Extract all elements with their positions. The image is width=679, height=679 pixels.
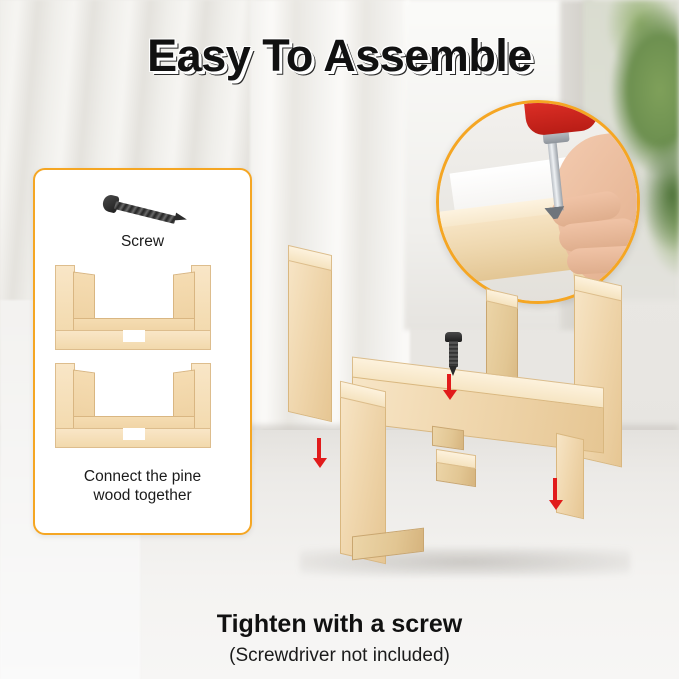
frame-back-left-post <box>288 250 332 422</box>
caption-main: Tighten with a screw <box>0 610 679 639</box>
screw-tip-icon <box>174 213 188 224</box>
screw-illustration <box>103 192 189 222</box>
screw-shaft-icon <box>114 201 176 224</box>
arrow-down-left <box>313 438 325 468</box>
connect-label: Connect the pine wood together <box>35 467 250 506</box>
screw-label: Screw <box>35 232 250 251</box>
product-infographic: Easy To Assemble Screw Connect the pine … <box>0 0 679 679</box>
frame-rail-notch <box>432 426 464 450</box>
page-title: Easy To Assemble <box>0 30 679 82</box>
finger-ring <box>566 245 640 275</box>
card-part-lower-left-post <box>55 363 75 437</box>
arrow-down-right <box>549 478 561 510</box>
assembly-screw-shaft-icon <box>449 341 458 367</box>
card-part-upper-left-post <box>55 265 75 339</box>
card-part-lower-notch <box>123 428 145 440</box>
parts-callout-card: Screw Connect the pine wood together <box>33 168 252 535</box>
arrow-down-center <box>443 374 455 400</box>
caption-sub: (Screwdriver not included) <box>0 645 679 667</box>
screwdriver-inset <box>436 100 640 304</box>
card-part-upper-notch <box>123 330 145 342</box>
